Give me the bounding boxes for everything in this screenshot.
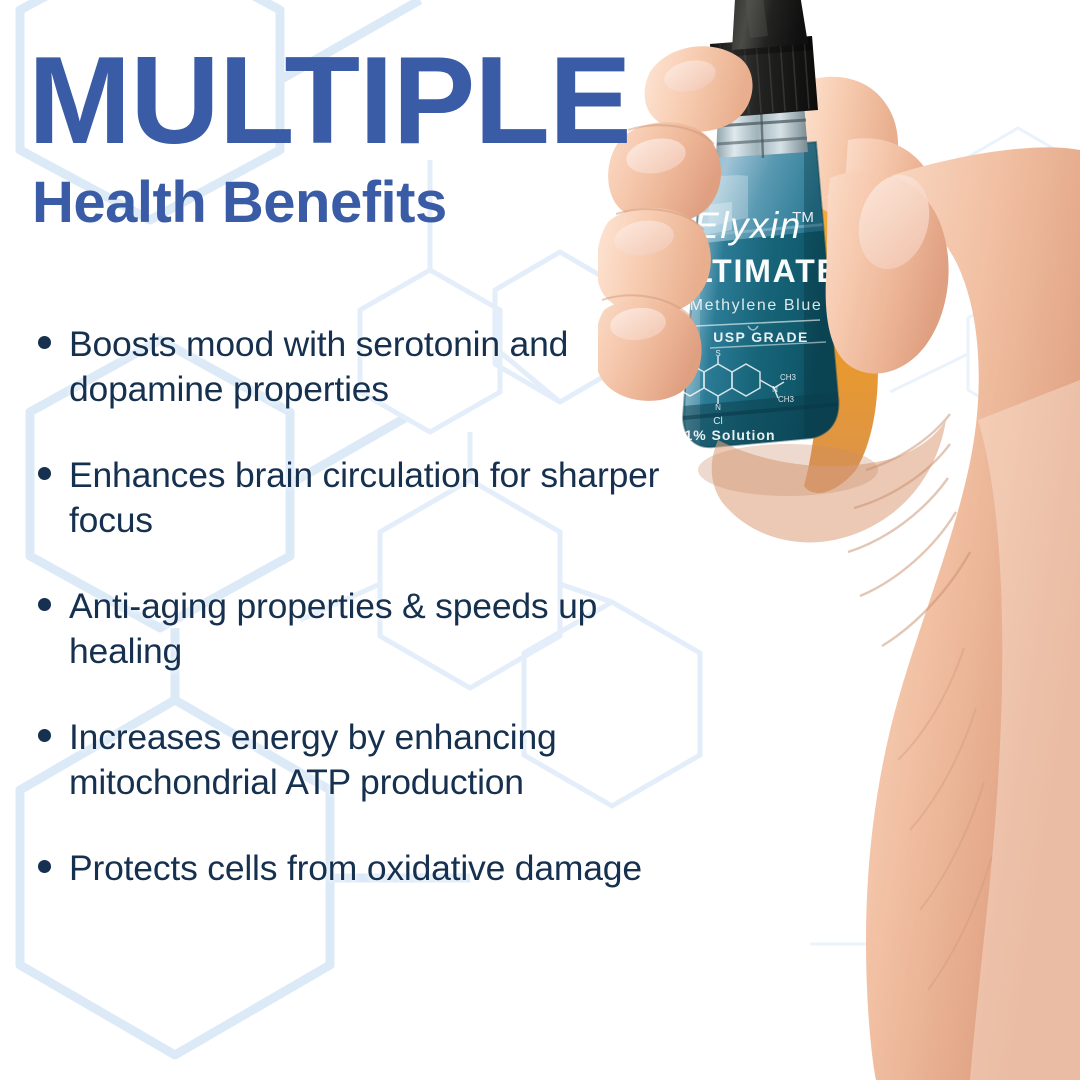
label-ingredient: Methylene Blue	[690, 297, 823, 314]
list-item: Increases energy by enhancing mitochondr…	[34, 715, 694, 806]
bullet-dot-icon	[38, 729, 51, 742]
page-subtitle: Health Benefits	[32, 173, 788, 234]
list-item: Enhances brain circulation for sharper f…	[34, 453, 694, 544]
page-title: MULTIPLE	[28, 44, 788, 159]
atom-nitrogen-right: N	[772, 385, 778, 394]
benefit-text: Protects cells from oxidative damage	[69, 846, 642, 891]
benefits-list: Boosts mood with serotonin and dopamine …	[34, 322, 694, 931]
bullet-dot-icon	[38, 336, 51, 349]
dropper-bulb	[732, 0, 808, 50]
list-item: Anti-aging properties & speeds up healin…	[34, 584, 694, 675]
label-concentration: 1% Solution	[684, 427, 775, 443]
product-benefits-poster: MULTIPLE Health Benefits Boosts mood wit…	[0, 0, 1080, 1080]
atom-methyl-4: CH3	[778, 395, 795, 404]
bullet-dot-icon	[38, 467, 51, 480]
atom-nitrogen-ring: N	[715, 403, 721, 412]
benefit-text: Boosts mood with serotonin and dopamine …	[69, 322, 694, 413]
benefit-text: Increases energy by enhancing mitochondr…	[69, 715, 694, 806]
atom-sulfur: S	[715, 349, 720, 358]
atom-counterion: Cl	[713, 416, 722, 427]
benefit-text: Enhances brain circulation for sharper f…	[69, 453, 694, 544]
bullet-dot-icon	[38, 598, 51, 611]
label-trademark: TM	[792, 209, 814, 226]
list-item: Protects cells from oxidative damage	[34, 846, 694, 891]
headline-block: MULTIPLE Health Benefits	[28, 44, 788, 234]
bullet-dot-icon	[38, 860, 51, 873]
benefit-text: Anti-aging properties & speeds up healin…	[69, 584, 694, 675]
list-item: Boosts mood with serotonin and dopamine …	[34, 322, 694, 413]
atom-methyl-3: CH3	[780, 373, 797, 382]
label-grade: USP GRADE	[713, 329, 809, 345]
